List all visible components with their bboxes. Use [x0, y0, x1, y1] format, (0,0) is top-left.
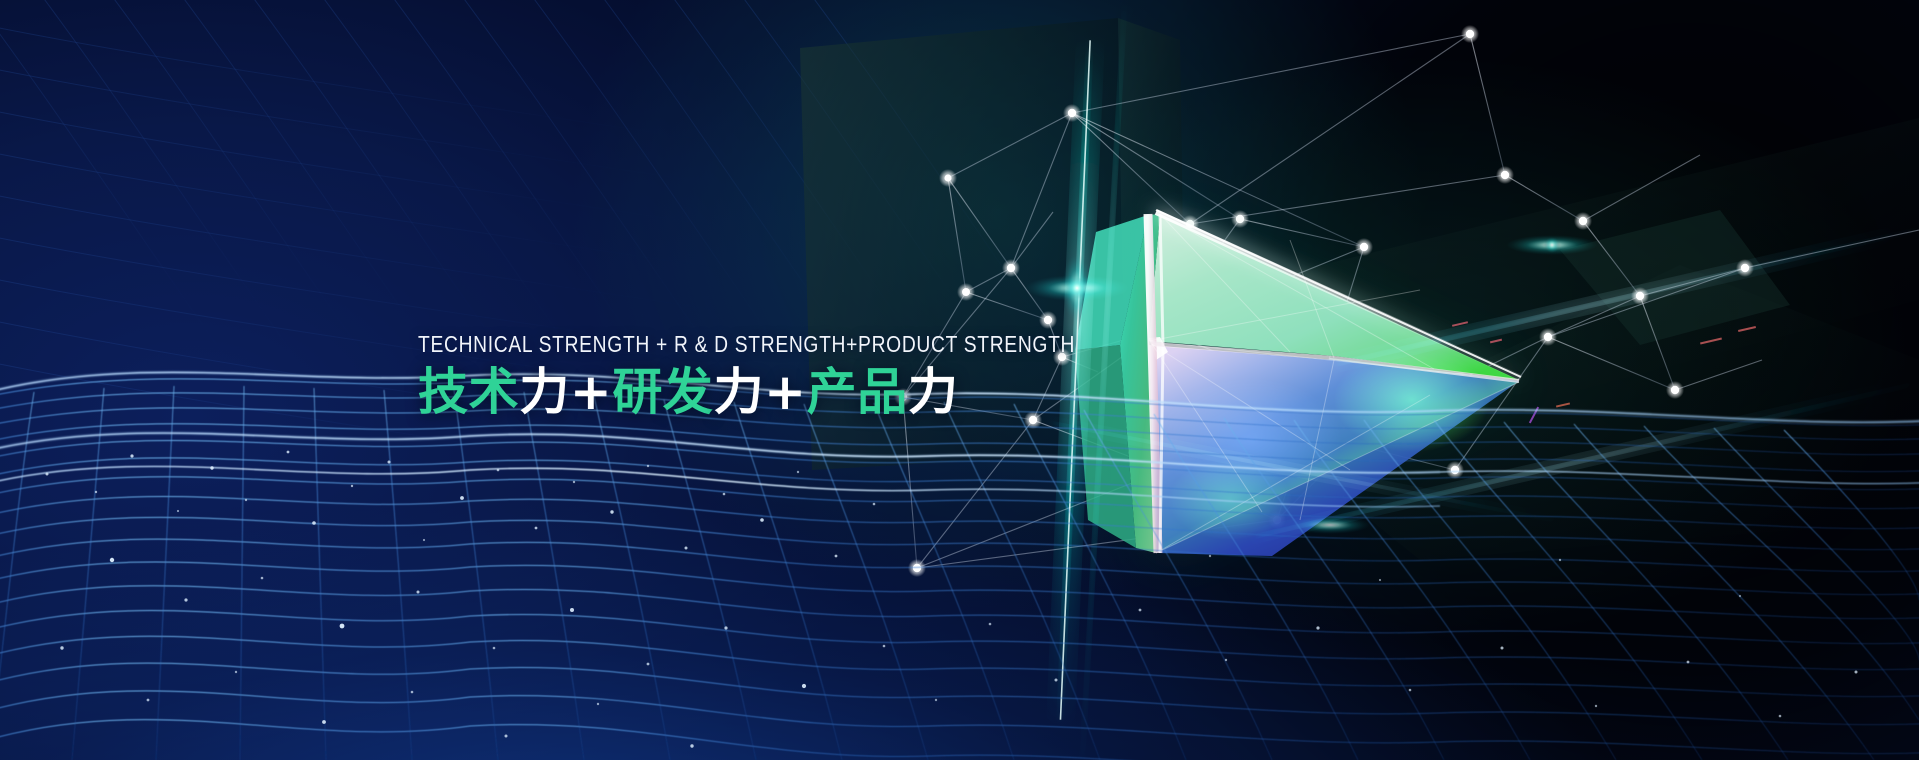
headline-seg-4: 力: [714, 363, 765, 421]
headline-seg-7: 力: [908, 363, 959, 421]
hero-text-block: TECHNICAL STRENGTH + R & D STRENGTH+PROD…: [418, 332, 1038, 419]
headline-seg-5: +: [764, 363, 807, 421]
hero-headline: 技术力+研发力+产品力: [418, 366, 1038, 419]
headline-seg-2: +: [570, 363, 613, 421]
hero-banner: TECHNICAL STRENGTH + R & D STRENGTH+PROD…: [0, 0, 1919, 760]
headline-seg-1: 力: [519, 363, 570, 421]
headline-seg-3: 研发: [612, 363, 713, 421]
headline-seg-0: 技术: [418, 363, 519, 421]
hero-eyebrow: TECHNICAL STRENGTH + R & D STRENGTH+PROD…: [418, 332, 926, 357]
headline-seg-6: 产品: [807, 363, 908, 421]
